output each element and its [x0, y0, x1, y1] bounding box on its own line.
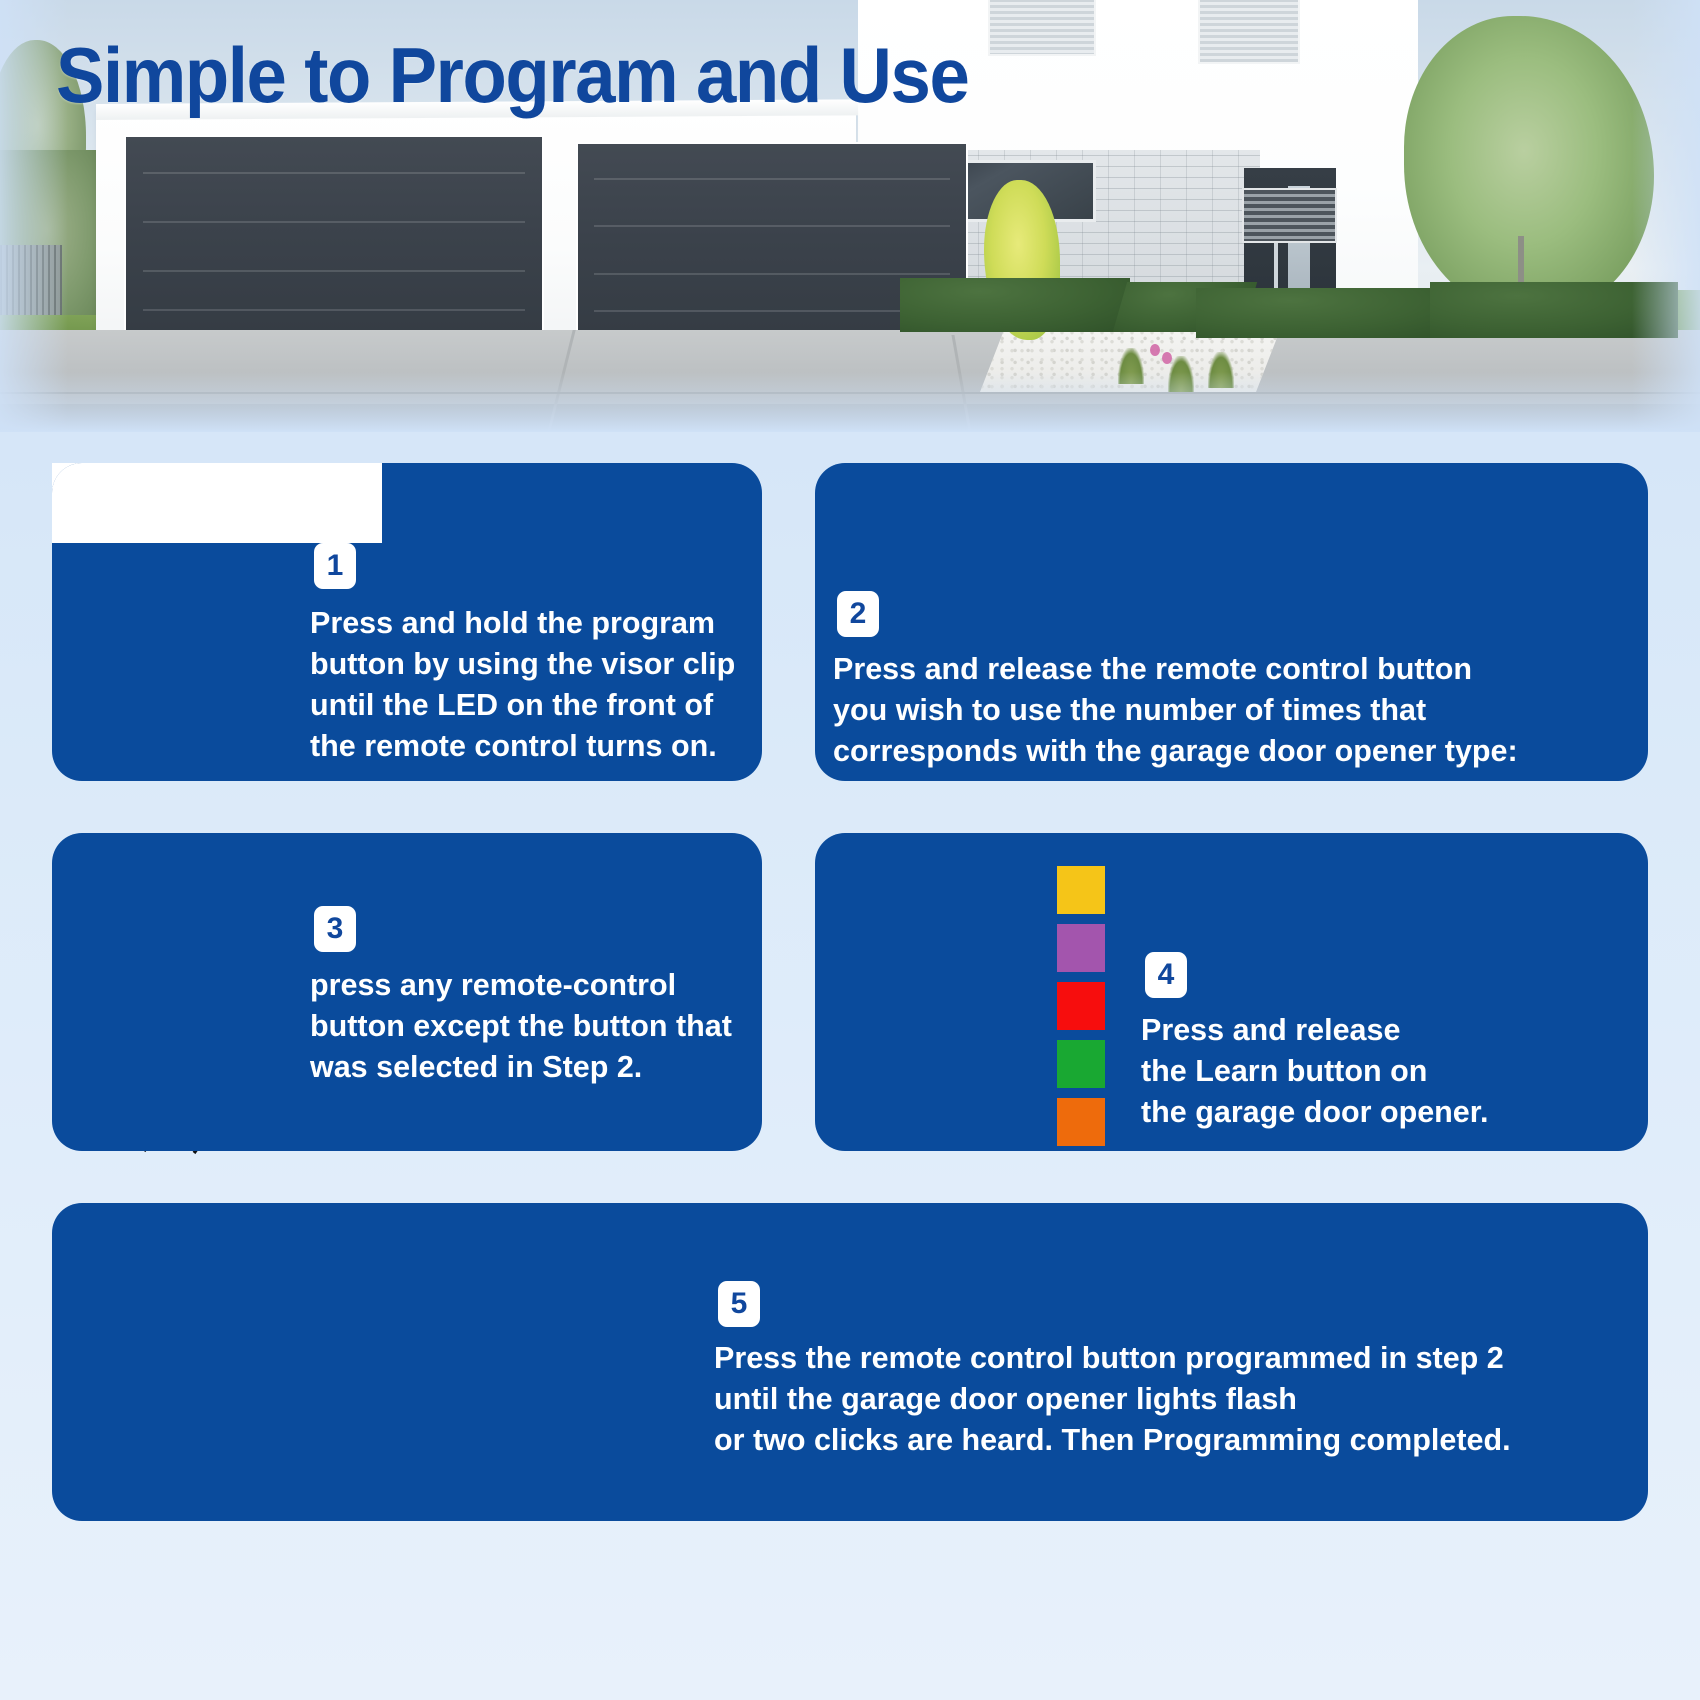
step-badge-1: 1 [314, 543, 356, 589]
step-badge-2: 2 [837, 591, 879, 637]
step-text-2: Press and release the remote control but… [833, 649, 1633, 772]
step-badge-5: 5 [718, 1281, 760, 1327]
step-badge-4: 4 [1145, 952, 1187, 998]
chip-red [1057, 982, 1105, 1030]
chip-green [1057, 1040, 1105, 1088]
step-badge-3: 3 [314, 906, 356, 952]
step-text-3: press any remote-control button except t… [310, 965, 765, 1088]
learn-button-color-chips [1057, 866, 1105, 1156]
step-text-4: Press and release the Learn button on th… [1141, 1010, 1641, 1133]
step-text-1: Press and hold the program button by usi… [310, 603, 760, 766]
chip-orange [1057, 1098, 1105, 1146]
chip-purple [1057, 924, 1105, 972]
page-title: Simple to Program and Use [56, 30, 968, 121]
chip-yellow [1057, 866, 1105, 914]
illustration-plate [52, 463, 382, 543]
step-text-5: Press the remote control button programm… [714, 1338, 1644, 1461]
